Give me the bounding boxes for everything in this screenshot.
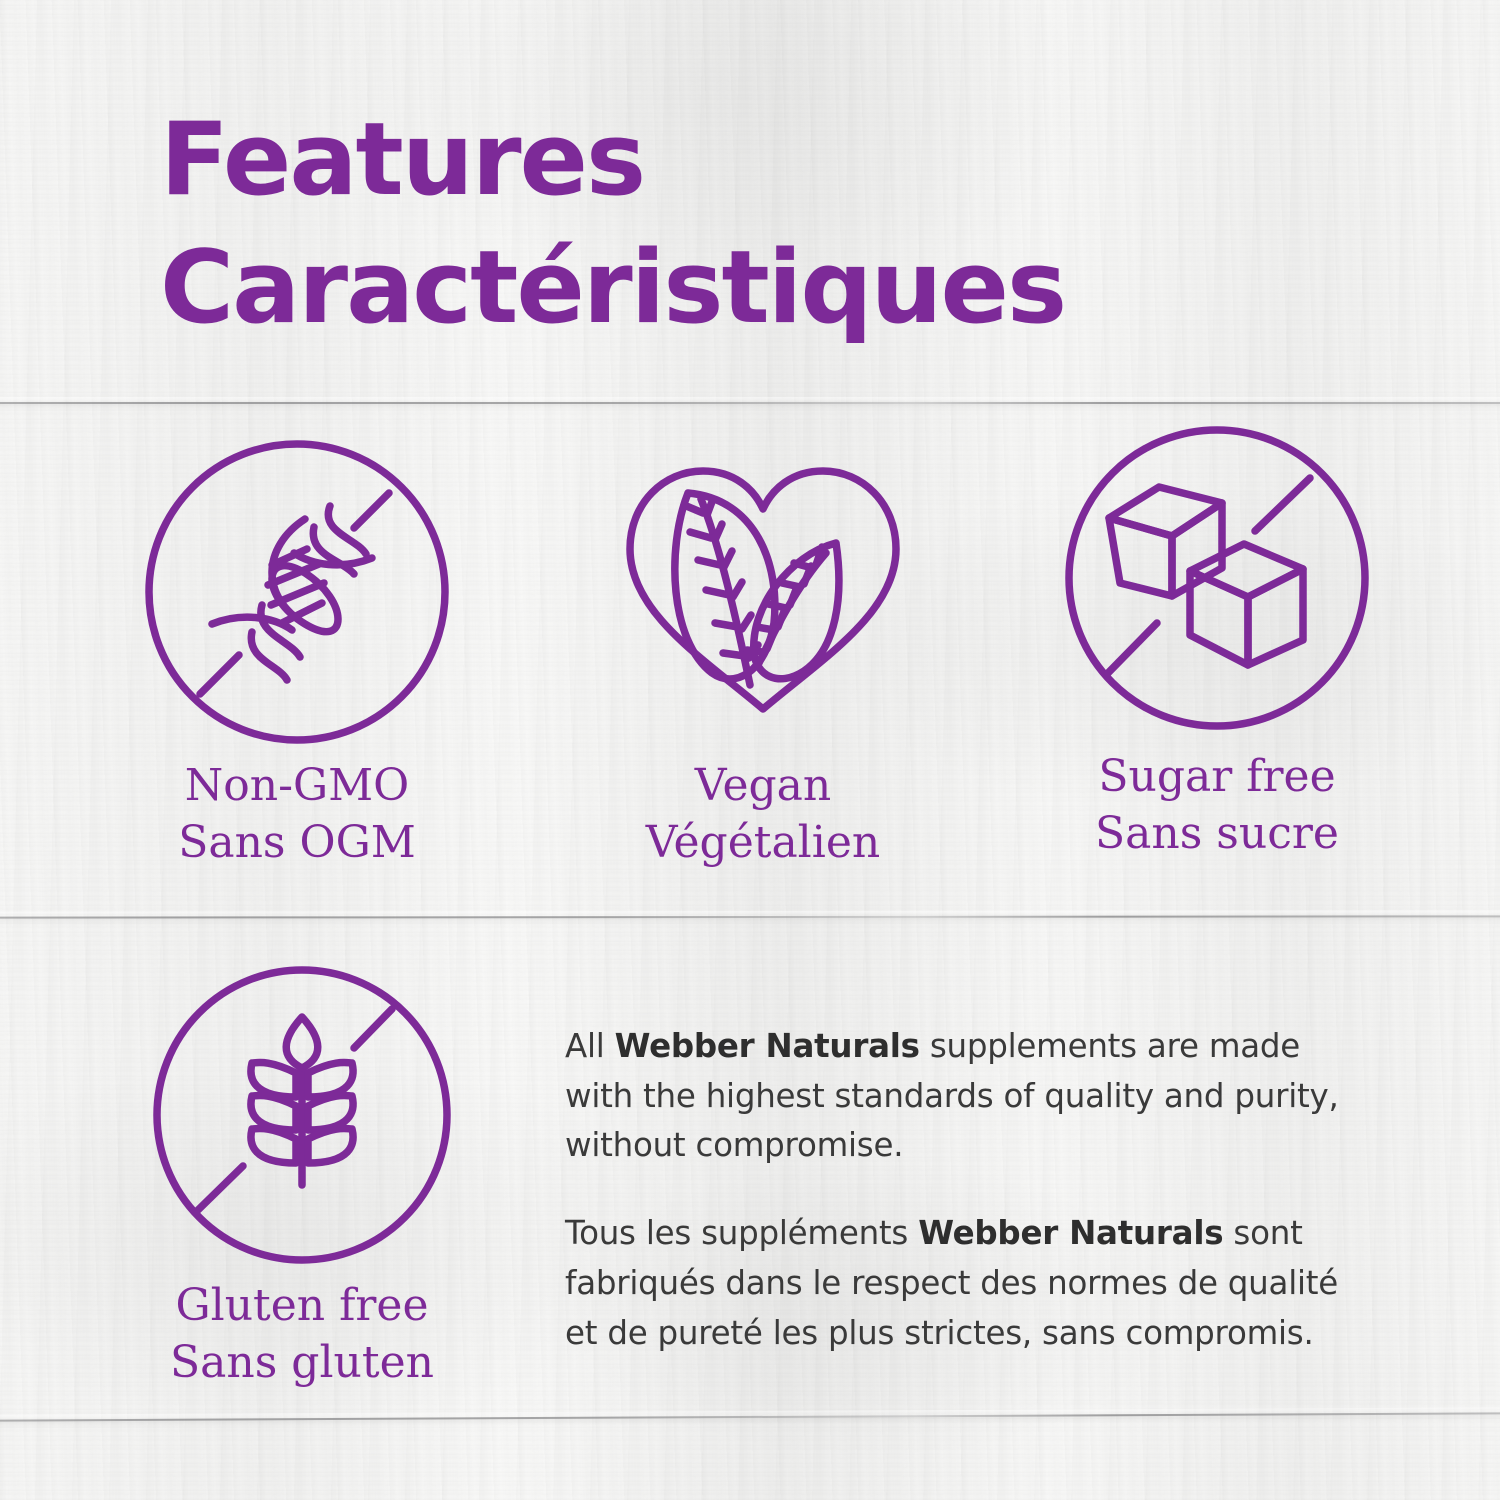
- paragraph-en-before: All: [565, 1027, 615, 1065]
- no-dna-icon: [142, 437, 452, 747]
- feature-label-non-gmo: Non-GMO Sans OGM: [142, 757, 452, 871]
- plank-seam: [0, 402, 1500, 405]
- brand-name-en: Webber Naturals: [615, 1027, 920, 1065]
- no-sugar-cubes-icon: [1062, 423, 1372, 733]
- brand-name-fr: Webber Naturals: [918, 1214, 1223, 1252]
- paragraph-fr: Tous les suppléments Webber Naturals son…: [565, 1209, 1377, 1358]
- feature-label-vegan: Vegan Végétalien: [608, 757, 918, 871]
- paragraph-fr-before: Tous les suppléments: [565, 1214, 918, 1252]
- page-title: Features Caractéristiques: [160, 95, 1065, 352]
- feature-panel: Features Caractéristiques: [0, 0, 1500, 1500]
- body-copy: All Webber Naturals supplements are made…: [565, 1022, 1377, 1358]
- plank-seam: [0, 915, 1500, 919]
- feature-label-sugar-free: Sugar free Sans sucre: [1062, 748, 1372, 862]
- plank-seam: [0, 1412, 1500, 1422]
- heart-leaves-icon: [608, 437, 918, 747]
- feature-label-gluten-free: Gluten free Sans gluten: [142, 1277, 462, 1391]
- paragraph-en: All Webber Naturals supplements are made…: [565, 1022, 1377, 1171]
- no-wheat-icon: [150, 963, 454, 1267]
